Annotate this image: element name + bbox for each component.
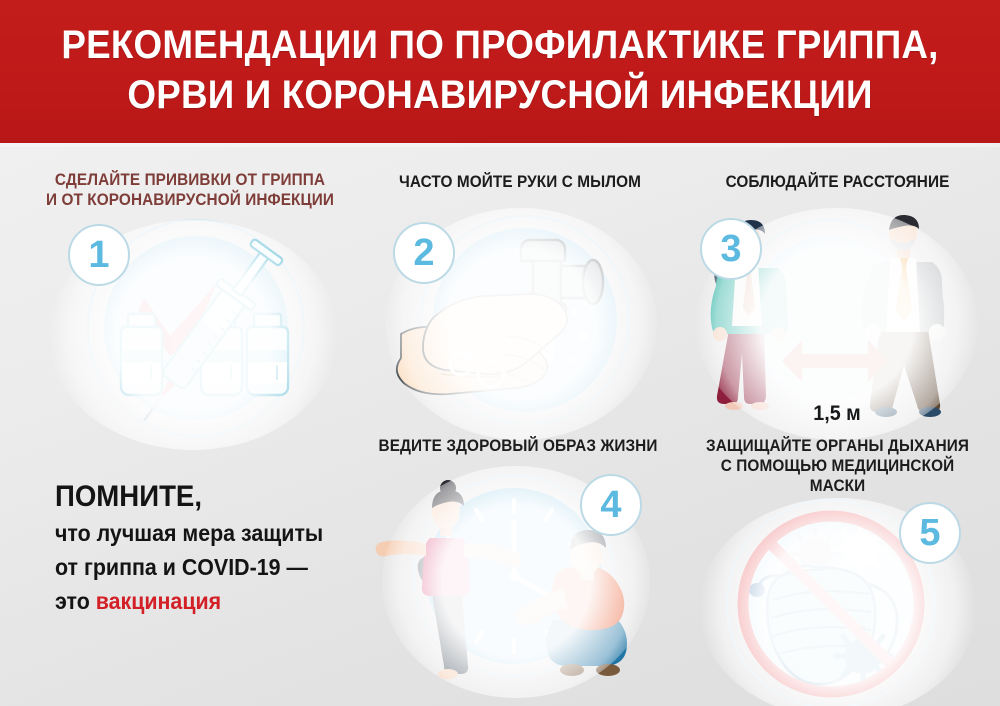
tip-2-heading-line1: ЧАСТО МОЙТЕ РУКИ С МЫЛОМ [399,173,641,191]
tip-5-heading-line2: С ПОМОЩЬЮ МЕДИЦИНСКОЙ МАСКИ [696,456,980,496]
infographic-poster: РЕКОМЕНДАЦИИ ПО ПРОФИЛАКТИКЕ ГРИППА, ОРВ… [0,0,1000,706]
tip-5-number-badge: 5 [899,502,961,564]
tip-5-heading-line1: ЗАЩИЩАЙТЕ ОРГАНЫ ДЫХАНИЯ [706,437,969,455]
page-title-line1: РЕКОМЕНДАЦИИ ПО ПРОФИЛАКТИКЕ ГРИППА, [61,23,938,67]
tip-4-heading-line1: ВЕДИТЕ ЗДОРОВЫЙ ОБРАЗ ЖИЗНИ [379,437,658,455]
tip-5-illustration: 5 [685,506,990,706]
tip-1-heading: СДЕЛАЙТЕ ПРИВИВКИ ОТ ГРИППА И ОТ КОРОНАВ… [32,170,348,210]
tip-2-number-badge: 2 [393,222,455,284]
tip-4-illustration: 4 [368,476,668,692]
remember-line1: что лучшая мера защиты [55,516,353,550]
remember-title: ПОМНИТЕ, [55,478,349,516]
tip-3-number: 3 [720,230,741,268]
tip-1-heading-line1: СДЕЛАЙТЕ ПРИВИВКИ ОТ ГРИППА [55,171,325,189]
tip-2-number: 2 [413,234,434,272]
remember-line3-prefix: это [55,588,96,614]
tip-5-number: 5 [919,514,940,552]
tip-3-heading: СОБЛЮДАЙТЕ РАССТОЯНИЕ [700,172,974,192]
tip-1-number-badge: 1 [68,224,130,286]
tip-2-heading: ЧАСТО МОЙТЕ РУКИ С МЫЛОМ [385,172,655,192]
header-band: РЕКОМЕНДАЦИИ ПО ПРОФИЛАКТИКЕ ГРИППА, ОРВ… [0,0,1000,143]
tip-3-heading-line1: СОБЛЮДАЙТЕ РАССТОЯНИЕ [726,173,950,191]
distance-label: 1,5 м [785,402,888,426]
tip-3-illustration: 3 1,5 м [690,214,985,436]
tip-5-heading: ЗАЩИЩАЙТЕ ОРГАНЫ ДЫХАНИЯ С ПОМОЩЬЮ МЕДИЦ… [696,436,980,496]
page-title: РЕКОМЕНДАЦИИ ПО ПРОФИЛАКТИКЕ ГРИППА, ОРВ… [40,20,960,120]
tip-1-illustration: 1 [20,210,360,440]
remember-block: ПОМНИТЕ, что лучшая мера защиты от грипп… [55,478,375,618]
tip-2-illustration: 2 [375,214,665,436]
tip-card-5: ЗАЩИЩАЙТЕ ОРГАНЫ ДЫХАНИЯ С ПОМОЩЬЮ МЕДИЦ… [685,436,990,706]
tip-3-number-badge: 3 [700,218,762,280]
tip-1-number: 1 [88,236,109,274]
remember-line2: от гриппа и COVID-19 — [55,550,353,584]
page-title-line2: ОРВИ И КОРОНАВИРУСНОЙ ИНФЕКЦИИ [40,70,960,120]
tip-1-heading-line2: И ОТ КОРОНАВИРУСНОЙ ИНФЕКЦИИ [32,190,348,210]
tip-4-number: 4 [600,486,621,524]
tip-card-4: ВЕДИТЕ ЗДОРОВЫЙ ОБРАЗ ЖИЗНИ [368,436,668,692]
remember-line3-accent: вакцинация [96,588,221,614]
tip-4-number-badge: 4 [580,474,642,536]
remember-line3: это вакцинация [55,584,353,618]
tip-card-3: СОБЛЮДАЙТЕ РАССТОЯНИЕ [690,172,985,436]
tip-card-2: ЧАСТО МОЙТЕ РУКИ С МЫЛОМ [375,172,665,436]
tip-4-heading: ВЕДИТЕ ЗДОРОВЫЙ ОБРАЗ ЖИЗНИ [379,436,658,456]
tip-card-1: СДЕЛАЙТЕ ПРИВИВКИ ОТ ГРИППА И ОТ КОРОНАВ… [20,170,360,440]
